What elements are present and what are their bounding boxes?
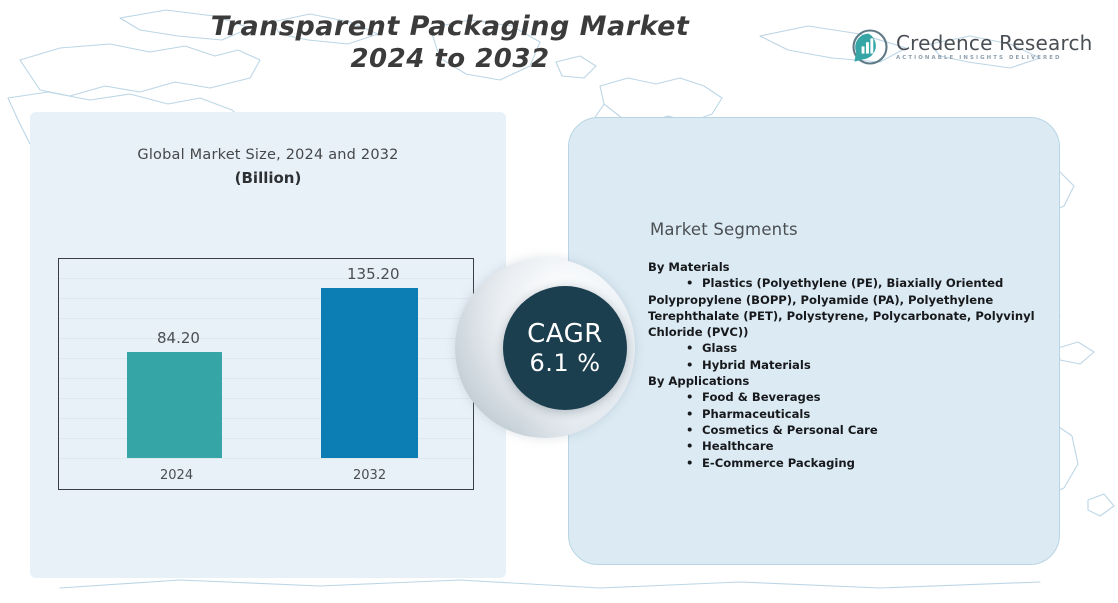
bullet-icon: • <box>648 422 702 438</box>
title-line-1: Transparent Packaging Market <box>180 10 720 43</box>
bullet-icon: • <box>648 406 702 422</box>
chart-heading-line-2: (Billion) <box>30 166 506 190</box>
logo-company-name: Credence Research <box>896 32 1093 54</box>
list-item: •Hybrid Materials <box>648 357 1048 373</box>
bullet-icon: • <box>648 389 702 405</box>
logo-tagline: Actionable Insights Delivered <box>896 54 1093 63</box>
credence-logo-mark-icon <box>851 28 889 66</box>
brand-logo[interactable]: Credence Research Actionable Insights De… <box>851 28 1093 66</box>
bar-value-2032: 135.20 <box>347 265 400 283</box>
title-line-2: 2024 to 2032 <box>180 43 720 76</box>
market-segments-list: By Materials •Plastics (Polyethylene (PE… <box>648 259 1048 471</box>
bar-2032 <box>321 288 418 458</box>
list-item: •Food & Beverages <box>648 389 1048 405</box>
segment-group-applications: By Applications •Food & Beverages •Pharm… <box>648 373 1048 471</box>
logo-text-block: Credence Research Actionable Insights De… <box>896 32 1093 63</box>
list-item: •Cosmetics & Personal Care <box>648 422 1048 438</box>
cagr-value: 6.1 % <box>529 349 600 377</box>
category-label-2032: 2032 <box>353 468 386 483</box>
cagr-label: CAGR <box>527 319 603 349</box>
list-item: •Pharmaceuticals <box>648 406 1048 422</box>
bar-value-2024: 84.20 <box>157 329 200 347</box>
chart-plot-area: 84.20 135.20 2024 2032 <box>59 259 473 489</box>
list-item: •Glass <box>648 340 1048 356</box>
market-segments-title: Market Segments <box>650 220 798 239</box>
bullet-icon: • <box>648 438 702 454</box>
infographic-canvas: Transparent Packaging Market 2024 to 203… <box>0 0 1118 603</box>
page-title: Transparent Packaging Market 2024 to 203… <box>180 10 720 76</box>
list-item: •Plastics (Polyethylene (PE), Biaxially … <box>648 275 1048 340</box>
list-item: •E-Commerce Packaging <box>648 455 1048 471</box>
bullet-icon: • <box>648 275 702 291</box>
bullet-icon: • <box>648 340 702 356</box>
segment-group-materials: By Materials •Plastics (Polyethylene (PE… <box>648 259 1048 373</box>
bullet-icon: • <box>648 357 702 373</box>
segment-group-title-materials: By Materials <box>648 259 1048 275</box>
bar-2024 <box>127 352 222 458</box>
list-item: •Healthcare <box>648 438 1048 454</box>
category-label-2024: 2024 <box>160 468 193 483</box>
cagr-badge: CAGR 6.1 % <box>503 286 627 410</box>
segment-group-title-applications: By Applications <box>648 373 1048 389</box>
bullet-icon: • <box>648 455 702 471</box>
chart-heading-line-1: Global Market Size, 2024 and 2032 <box>30 144 506 166</box>
chart-heading: Global Market Size, 2024 and 2032 (Billi… <box>30 144 506 190</box>
bar-chart: 84.20 135.20 2024 2032 <box>58 258 474 490</box>
